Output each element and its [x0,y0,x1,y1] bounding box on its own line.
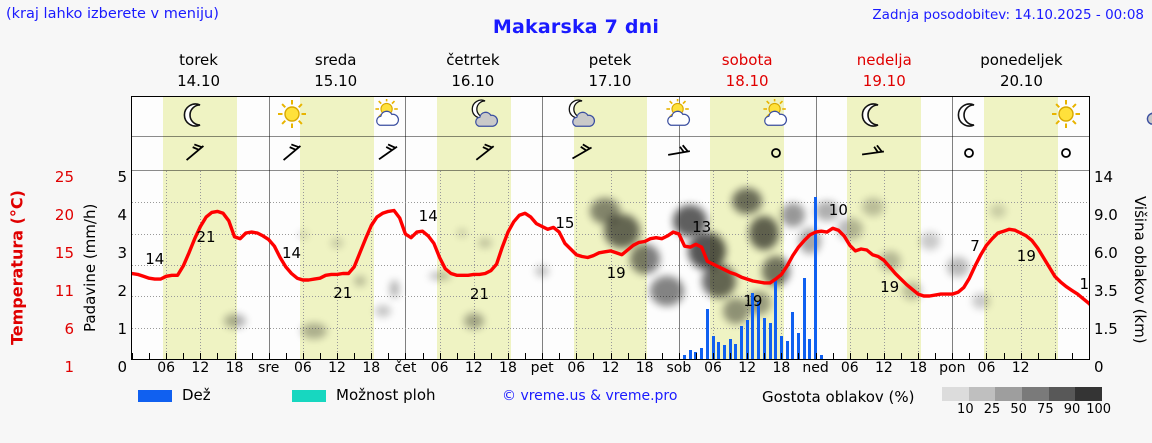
daylight-band [984,97,1058,137]
temperature-value-label: 21 [333,284,352,302]
day-header-ponedeljek: ponedeljek20.10 [953,50,1090,94]
x-tick-label: 12 [1012,360,1030,376]
axis-tick-mark [440,353,441,359]
sun-cloud-icon [759,99,793,133]
daylight-band [300,97,374,137]
day-name: sobota [679,50,816,71]
day-separator [542,137,543,171]
axis-tick-label: 20 [55,206,74,224]
moon-cloud-icon [565,99,599,133]
x-tick-label: 12 [602,360,620,376]
wind-barb-icon [664,137,694,167]
temperature-value-label: 19 [1017,247,1036,265]
wind-barb-icon [180,137,210,167]
day-date: 19.10 [816,71,953,92]
cloud-density-tick-label: 90 [1064,402,1081,417]
day-name: četrtek [404,50,541,71]
axis-tick-mark [816,353,817,359]
cloud-density-tick-label: 75 [1037,402,1054,417]
axis-tick-label: 2 [117,282,127,300]
axis-tick-mark [986,353,987,359]
x-tick-label: 06 [978,360,996,376]
day-separator [952,137,953,171]
axis-tick-mark [850,353,851,359]
x-tick-label: čet [395,360,417,376]
day-header-nedelja: nedelja19.10 [816,50,953,94]
axis-tick-label: 0 [117,358,127,376]
day-separator [405,137,406,171]
day-separator [816,97,817,137]
cloud-density-tick-label: 100 [1086,402,1111,417]
x-tick-label: 06 [567,360,585,376]
axis-tick-label: 11 [55,282,74,300]
axis-tick-mark [354,353,355,359]
sun-icon [1049,99,1083,133]
precipitation-axis-title: Padavine (mm/h) [78,175,102,360]
axis-tick-mark [235,353,236,359]
temperature-value-label: 14 [419,207,438,225]
temperature-value-label: 19 [743,292,762,310]
wind-barb-icon [858,137,888,167]
cloud-density-swatch [942,387,969,401]
axis-tick-mark [747,353,748,359]
day-name: petek [541,50,678,71]
wind-barb-icon [373,137,403,167]
axis-tick-mark [423,353,424,359]
rain-legend-swatch [138,390,172,402]
x-tick-label: 18 [362,360,380,376]
day-name: ponedeljek [953,50,1090,71]
day-name: nedelja [816,50,953,71]
temperature-value-label: 10 [829,201,848,219]
wind-calm-icon [1051,137,1081,167]
axis-tick-mark [662,353,663,359]
axis-tick-label: 5 [117,168,127,186]
axis-tick-label: 3 [117,244,127,262]
axis-tick-mark [542,353,543,359]
x-tick-label: 18 [636,360,654,376]
wind-calm-icon [954,137,984,167]
day-separator [405,97,406,137]
axis-tick-mark [611,353,612,359]
cloud-density-tick-label: 50 [1010,402,1027,417]
axis-tick-mark [696,353,697,359]
sun-cloud-icon [662,99,696,133]
axis-tick-mark [798,353,799,359]
last-update-label: Zadnja posodobitev: 14.10.2025 - 00:08 [872,7,1144,23]
temperature-value-label: 14 [145,250,164,268]
day-date: 14.10 [130,71,267,92]
wind-barb-icon [470,137,500,167]
temperature-value-label: 21 [470,285,489,303]
axis-tick-mark [628,353,629,359]
axis-tick-mark [303,353,304,359]
graph-plot-area: 14211421142115191319101971910 [132,171,1089,359]
x-tick-label: 18 [909,360,927,376]
axis-tick-mark [508,353,509,359]
axis-tick-mark [593,353,594,359]
axis-tick-label: 25 [55,168,74,186]
axis-tick-mark [1072,353,1073,359]
axis-tick-mark [730,353,731,359]
x-axis-tick-labels: 061218sre061218čet061218pet061218sob0612… [132,360,1089,380]
copyright-link[interactable]: © vreme.us & vreme.pro [502,388,677,404]
axis-tick-mark [679,353,680,359]
cloud-icon [1146,99,1152,133]
sun-cloud-icon [371,99,405,133]
axis-tick-mark [388,353,389,359]
sun-icon [275,99,309,133]
rain-legend-label: Dež [182,386,211,404]
x-tick-label: 12 [875,360,893,376]
cloud-density-swatch [1075,387,1102,401]
axis-tick-label: 0 [1094,358,1104,376]
x-tick-label: sre [258,360,279,376]
axis-tick-mark [952,353,953,359]
axis-tick-mark [1055,353,1056,359]
axis-tick-mark [491,353,492,359]
day-header-row: torek14.10sreda15.10četrtek16.10petek17.… [130,50,1090,94]
axis-tick-mark [371,353,372,359]
day-header-petek: petek17.10 [541,50,678,94]
x-tick-label: 12 [738,360,756,376]
cloud-density-scale-ticks: 1025507590100 [930,402,1120,420]
x-tick-label: pet [531,360,554,376]
moon-icon [952,99,986,133]
x-tick-label: ned [802,360,828,376]
temperature-value-label: 14 [282,244,301,262]
axis-tick-mark [132,353,133,359]
axis-tick-mark [149,353,150,359]
axis-tick-label: 3.5 [1094,282,1118,300]
x-tick-label: sob [666,360,691,376]
temperature-value-label: 15 [555,214,574,232]
cloud-density-swatch [969,387,996,401]
x-tick-label: 06 [294,360,312,376]
axis-tick-mark [1004,353,1005,359]
day-name: torek [130,50,267,71]
temperature-axis-ticks: 2520151161 [34,160,74,365]
axis-tick-mark [713,353,714,359]
axis-tick-label: 1.5 [1094,320,1118,338]
cloud-density-color-scale [942,387,1102,401]
axis-tick-label: 1 [117,320,127,338]
day-header-četrtek: četrtek16.10 [404,50,541,94]
axis-tick-mark [901,353,902,359]
day-separator [816,137,817,171]
x-tick-label: 18 [772,360,790,376]
daylight-band [300,137,374,171]
wind-barb-row [132,137,1089,171]
axis-tick-label: 14 [1094,168,1113,186]
showers-legend-swatch [292,390,326,402]
axis-tick-mark [337,353,338,359]
cloud-density-swatch [1049,387,1076,401]
x-tick-label: 12 [328,360,346,376]
day-header-sobota: sobota18.10 [679,50,816,94]
axis-tick-mark [200,353,201,359]
temperature-value-label: 19 [880,278,899,296]
axis-tick-mark [559,353,560,359]
axis-tick-mark [781,353,782,359]
axis-tick-mark [576,353,577,359]
x-tick-label: pon [939,360,965,376]
x-tick-label: 18 [499,360,517,376]
axis-tick-mark [764,353,765,359]
precipitation-axis-ticks: 543210 [103,160,127,365]
moon-icon [178,99,212,133]
x-tick-label: 06 [157,360,175,376]
cloud-density-tick-label: 25 [984,402,1001,417]
x-tick-label: 12 [191,360,209,376]
axis-tick-label: 9.0 [1094,206,1118,224]
axis-tick-label: 6 [64,320,74,338]
axis-tick-mark [269,353,270,359]
temperature-value-label: 13 [692,218,711,236]
day-separator [269,137,270,171]
daylight-band [984,137,1058,171]
cloud-density-tick-label: 10 [957,402,974,417]
cloud-density-legend-label: Gostota oblakov (%) [762,388,915,406]
temperature-value-label: 19 [607,264,626,282]
showers-legend-label: Možnost ploh [336,386,436,404]
day-date: 15.10 [267,71,404,92]
axis-tick-mark [405,353,406,359]
axis-tick-mark [286,353,287,359]
axis-tick-mark [1021,353,1022,359]
day-separator [269,97,270,137]
x-tick-label: 12 [465,360,483,376]
axis-tick-label: 1 [64,358,74,376]
axis-tick-mark [525,353,526,359]
axis-tick-label: 15 [55,244,74,262]
axis-tick-mark [918,353,919,359]
day-separator [542,97,543,137]
axis-tick-mark [217,353,218,359]
wind-barb-icon [277,137,307,167]
day-name: sreda [267,50,404,71]
wind-barb-icon [567,137,597,167]
axis-tick-mark [645,353,646,359]
axis-tick-mark [969,353,970,359]
moon-icon [856,99,890,133]
weather-icon-row [132,97,1089,137]
day-date: 16.10 [404,71,541,92]
axis-tick-mark [474,353,475,359]
axis-tick-mark [320,353,321,359]
x-tick-label: 18 [226,360,244,376]
day-header-torek: torek14.10 [130,50,267,94]
day-date: 17.10 [541,71,678,92]
cloud-density-swatch [995,387,1022,401]
x-tick-label: 06 [704,360,722,376]
axis-tick-mark [252,353,253,359]
day-date: 20.10 [953,71,1090,92]
axis-tick-label: 6.0 [1094,244,1118,262]
axis-tick-mark [183,353,184,359]
wind-calm-icon [761,137,791,167]
axis-tick-mark [457,353,458,359]
cloud-height-axis-title: Višina oblakov (km) [1128,175,1152,365]
temperature-axis-title: Temperatura (°C) [4,175,30,360]
axis-tick-mark [166,353,167,359]
day-date: 18.10 [679,71,816,92]
wind-barb-icon [1148,137,1152,167]
day-header-sreda: sreda15.10 [267,50,404,94]
axis-tick-mark [935,353,936,359]
axis-tick-label: 4 [117,206,127,224]
axis-tick-mark [1038,353,1039,359]
axis-tick-mark [867,353,868,359]
axis-tick-mark [833,353,834,359]
temperature-value-label: 21 [197,228,216,246]
x-tick-label: 06 [841,360,859,376]
cloud-density-swatch [1022,387,1049,401]
chart-legend: Dež Možnost ploh © vreme.us & vreme.pro … [130,386,1150,426]
temperature-value-label: 10 [1079,275,1089,293]
axis-tick-mark [884,353,885,359]
moon-cloud-icon [468,99,502,133]
x-tick-label: 06 [431,360,449,376]
temperature-value-label: 7 [970,237,980,255]
